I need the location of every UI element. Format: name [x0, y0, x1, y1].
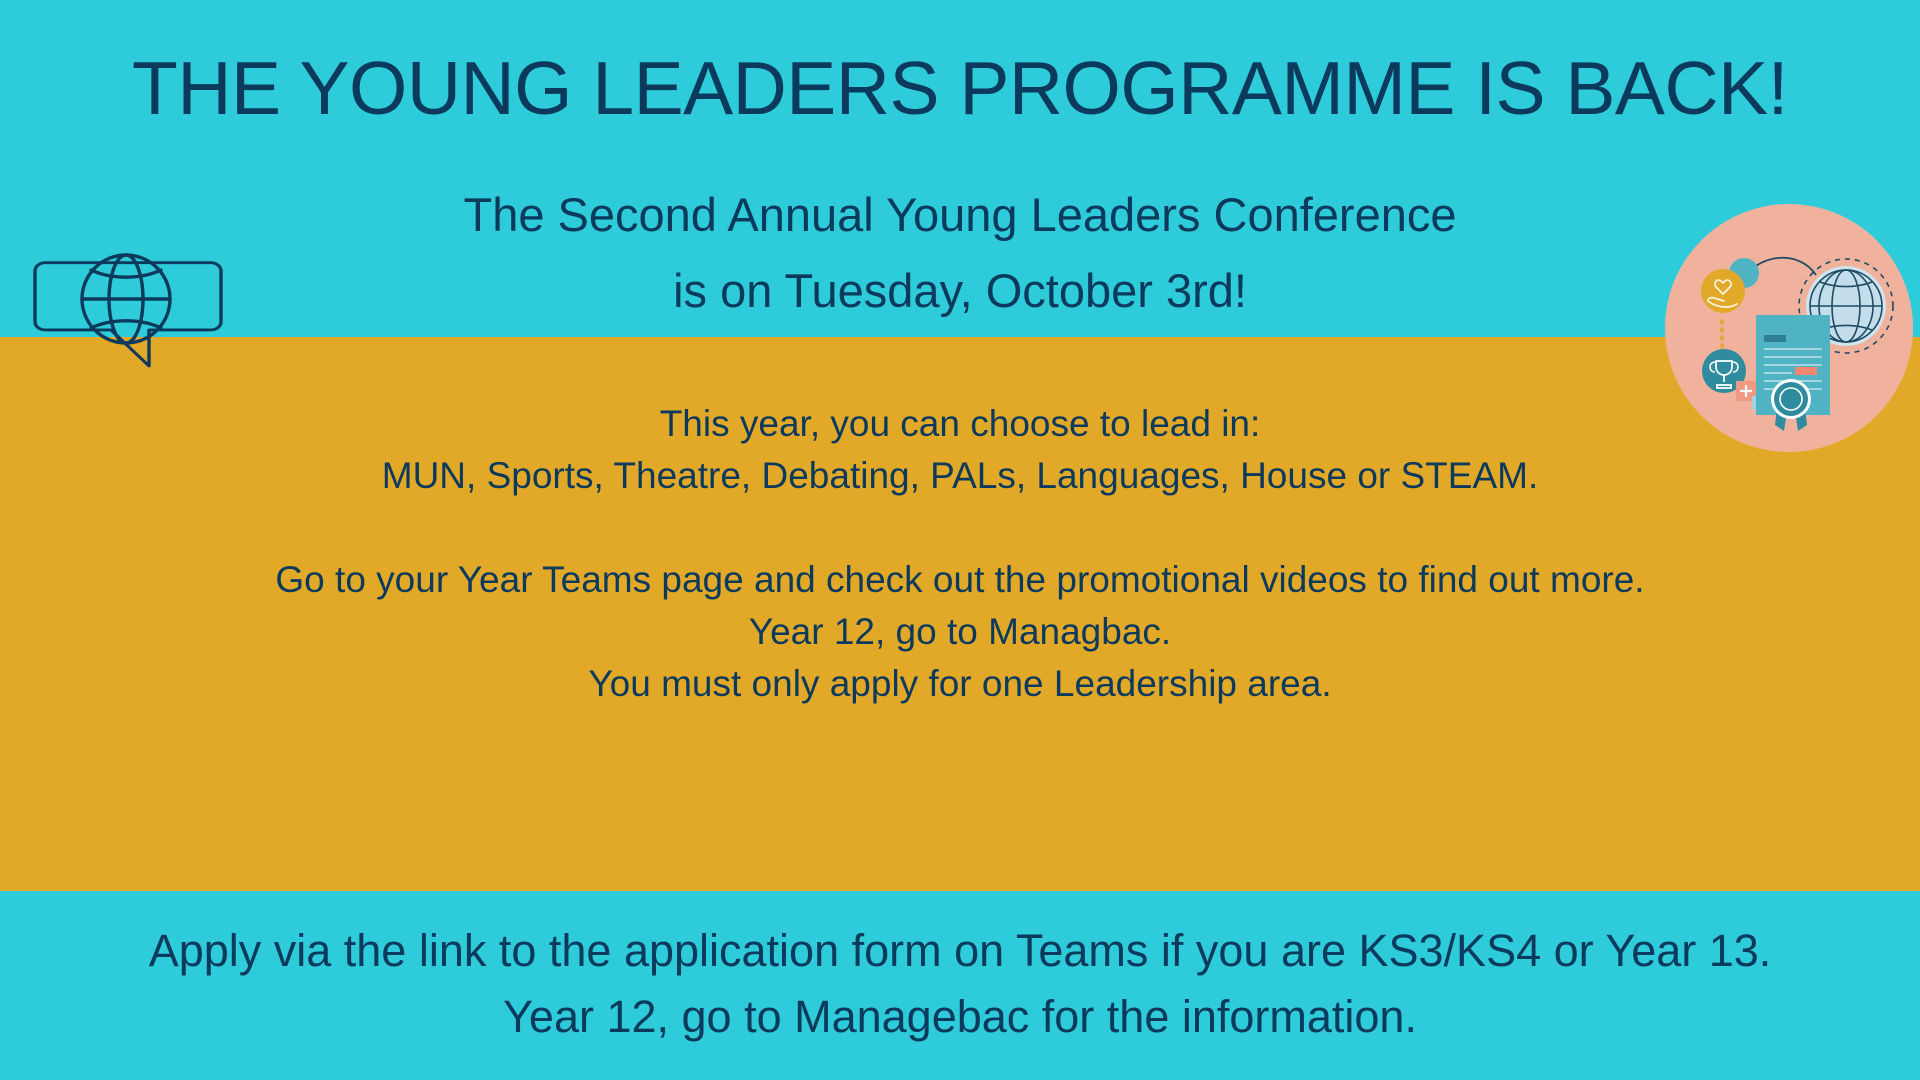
footer-line-1: Apply via the link to the application fo… — [0, 918, 1920, 984]
page-title: THE YOUNG LEADERS PROGRAMME IS BACK! — [0, 44, 1920, 132]
body-line-2: MUN, Sports, Theatre, Debating, PALs, La… — [0, 450, 1920, 502]
subtitle-line-1: The Second Annual Young Leaders Conferen… — [0, 177, 1920, 253]
body-spacer — [0, 502, 1920, 554]
body-text-block: This year, you can choose to lead in: MU… — [0, 398, 1920, 710]
footer-text-block: Apply via the link to the application fo… — [0, 918, 1920, 1050]
leadership-certificate-illustration — [1664, 203, 1914, 453]
poster-canvas: THE YOUNG LEADERS PROGRAMME IS BACK! The… — [0, 0, 1920, 1080]
body-line-3: Go to your Year Teams page and check out… — [0, 554, 1920, 606]
subtitle-line-2: is on Tuesday, October 3rd! — [0, 253, 1920, 329]
body-line-5: You must only apply for one Leadership a… — [0, 658, 1920, 710]
body-line-4: Year 12, go to Managbac. — [0, 606, 1920, 658]
footer-line-2: Year 12, go to Managebac for the informa… — [0, 984, 1920, 1050]
heart-in-hand-icon — [1701, 269, 1745, 313]
subtitle-block: The Second Annual Young Leaders Conferen… — [0, 177, 1920, 329]
body-line-1: This year, you can choose to lead in: — [0, 398, 1920, 450]
